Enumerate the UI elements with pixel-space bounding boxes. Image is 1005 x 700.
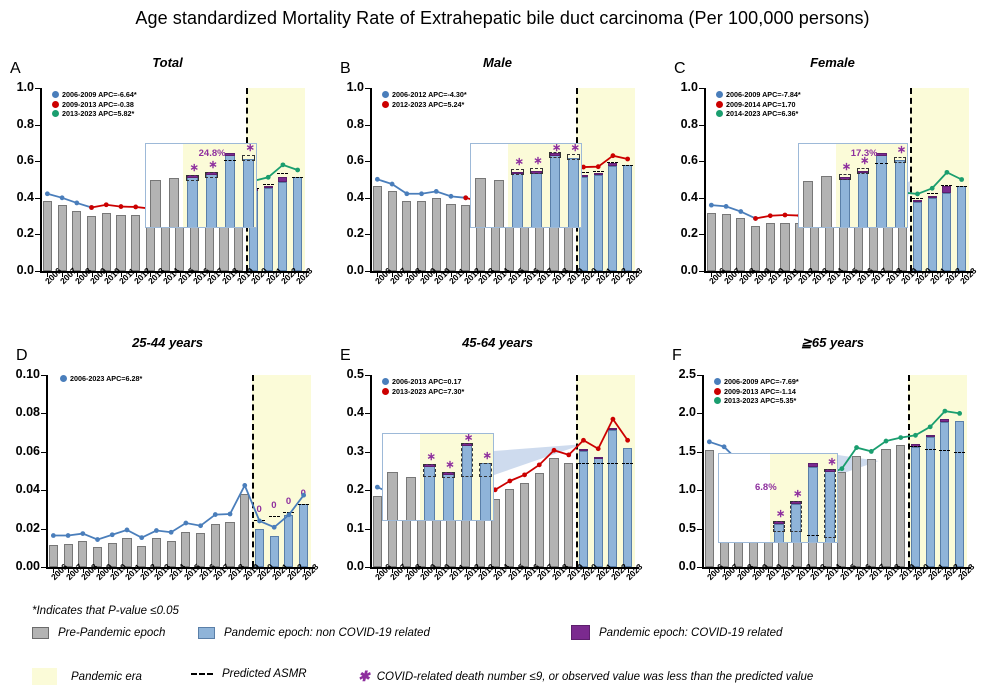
legend-item: 2009-2013 APC=-1.14 [714,387,799,396]
series-point-blue [125,528,130,533]
series-legend-d: 2006-2023 APC=6.28* [60,374,142,384]
panel-title-b: Male [330,55,665,70]
legend-marker-icon [714,388,721,395]
y-tick-label-0.4: 0.4 [0,190,34,204]
y-tick-label-1.0: 1.0 [658,482,696,496]
y-tick-mark [697,413,702,414]
series-point-blue [375,177,380,182]
legend-label: 2013-2023 APC=5.35* [724,396,796,405]
y-tick-mark [41,529,46,530]
series-legend-a: 2006-2009 APC=-6.64*2009-2013 APC=-0.382… [52,90,137,119]
y-tick-label-1.0: 1.0 [660,80,698,94]
legend-marker-icon [716,91,723,98]
bar-2023 [299,504,308,567]
inset-predicted-box [530,168,543,174]
y-tick-label-0.00: 0.00 [2,559,40,573]
series-point-blue [463,195,468,200]
inset-bar [243,159,254,228]
bar-2010 [432,198,441,271]
bar-2021 [270,536,279,567]
panel-title-c: Female [660,55,1005,70]
covid-segment-2021 [926,435,935,437]
figure-footnote: *Indicates that P-value ≤0.05 [32,605,179,617]
y-tick-label-0.0: 0.0 [658,559,696,573]
series-point-red [463,195,468,200]
y-tick-mark [35,198,40,199]
bar-2019 [564,463,573,567]
legend-label: 2009-2013 APC=-1.14 [724,387,796,396]
panel-e: 45-64 yearsE0.00.10.20.30.40.52006200720… [330,335,665,597]
y-tick-mark [697,529,702,530]
inset-bar [150,180,161,228]
bar-2006 [705,450,714,567]
predicted-asmr-2023 [292,177,303,178]
y-tick-mark [699,161,704,162]
star-icon: ✱ [358,668,370,685]
y-tick-mark [35,161,40,162]
y-tick-mark [697,375,702,376]
predicted-asmr-2021 [925,449,936,450]
series-point-blue [95,537,100,542]
y-tick-mark [699,234,704,235]
y-tick-mark [35,234,40,235]
bar-2012 [795,223,804,271]
panel-title-f: ≧65 years [660,335,1005,351]
bar-2014 [825,223,834,271]
panel-letter-c: C [674,60,686,78]
series-point-blue [74,201,79,206]
inset-bar [840,179,851,228]
bar-2017 [867,459,876,567]
legend-item: 2009-2014 APC=1.70 [716,100,801,109]
inset-bar [494,180,505,228]
bar-2015 [837,472,846,567]
predicted-asmr-2021 [269,516,280,517]
bar-2011 [446,204,455,271]
y-tick-mark [365,529,370,530]
series-point-blue [709,203,714,208]
series-point-green [869,449,874,454]
bar-2011 [122,538,131,567]
bar-2021 [264,188,273,271]
y-tick-mark [35,271,40,272]
y-tick-label-0.6: 0.6 [326,153,364,167]
y-tick-mark [699,88,704,89]
legend-label: 2014-2023 APC=6.36* [726,109,798,118]
inset-star-icon: ∗ [445,462,454,468]
y-axis [370,375,372,567]
y-tick-label-0.06: 0.06 [2,444,40,458]
swatch-yellow-icon [32,668,57,685]
inset-bar [821,176,832,228]
y-tick-label-0.6: 0.6 [660,153,698,167]
legend-marker-icon [382,378,389,385]
y-tick-mark [697,567,702,568]
pandemic-divider [908,375,910,567]
covid-segment-2021 [928,196,937,198]
bar-2022 [278,182,287,271]
panel-title-a: Total [0,55,335,70]
bar-2022 [940,422,949,567]
covid-segment-2021 [594,457,603,459]
inset-predicted-dash [875,163,888,164]
series-point-red [552,448,557,453]
y-tick-mark [41,567,46,568]
predicted-asmr-2020 [910,446,921,447]
series-point-blue [707,439,712,444]
inset-pct-label: 24.8% [199,148,226,159]
bar-2006 [43,201,52,271]
y-tick-label-0.3: 0.3 [326,444,364,458]
panel-d: 25-44 yearsD00000.000.020.040.060.080.10… [0,335,335,597]
bar-2006 [49,545,58,567]
bar-2023 [293,177,302,271]
inset-predicted-box [423,464,436,477]
y-tick-label-0.4: 0.4 [660,190,698,204]
panel-a: TotalA0.00.20.40.60.81.02006200720082009… [0,55,335,305]
series-point-blue [51,533,56,538]
y-tick-label-0.08: 0.08 [2,405,40,419]
legend-item: 2013-2023 APC=5.35* [714,396,799,405]
predicted-asmr-2023 [954,452,965,453]
y-tick-label-0.4: 0.4 [326,190,364,204]
series-point-blue [45,191,50,196]
series-point-red [133,205,138,210]
inset-predicted-box [186,175,199,181]
bar-2017 [211,524,220,567]
inset-bar [206,174,217,228]
legend-label: 2006-2023 APC=6.28* [70,374,142,383]
bar-2008 [402,201,411,271]
inset-predicted-box [824,469,836,538]
legend-item: 2006-2012 APC=-4.30* [382,90,467,99]
inset-star-icon: ∗ [776,511,785,517]
bar-2009 [751,226,760,271]
bar-2021 [594,458,603,567]
y-tick-label-0.6: 0.6 [0,153,34,167]
series-point-blue [198,523,203,528]
y-tick-mark [697,490,702,491]
series-point-green [898,435,903,440]
bar-2008 [72,211,81,271]
y-tick-label-2.5: 2.5 [658,367,696,381]
zero-label-2020: 0 [256,504,261,515]
predicted-asmr-2023 [956,186,967,187]
y-tick-label-1.0: 1.0 [326,80,364,94]
series-line-blue [47,194,91,208]
covid-segment-2022 [608,428,617,430]
series-point-blue [449,194,454,199]
inset-bar [803,181,814,228]
bar-2023 [623,165,632,271]
legend-marker-icon [714,378,721,385]
series-point-blue [89,205,94,210]
y-tick-label-0.5: 0.5 [658,521,696,535]
bar-2012 [461,205,470,271]
legend-item: 2013-2023 APC=7.30* [382,387,464,396]
y-tick-label-0.04: 0.04 [2,482,40,496]
legend-label: 2013-2023 APC=5.82* [62,109,134,118]
panel-letter-e: E [340,347,351,365]
inset-covid-segment [808,463,818,467]
legend-label: 2006-2012 APC=-4.30* [392,90,467,99]
series-line-red [92,205,151,209]
panel-letter-b: B [340,60,351,78]
zero-label-2021: 0 [271,500,276,511]
y-tick-label-1.5: 1.5 [658,444,696,458]
y-tick-label-0.4: 0.4 [326,405,364,419]
y-tick-mark [35,125,40,126]
bar-2022 [608,166,617,271]
series-legend-e: 2006-2013 APC=0.172013-2023 APC=7.30* [382,377,464,396]
legend-label: 2006-2013 APC=0.17 [392,377,461,386]
series-point-green [839,466,844,471]
predicted-asmr-2022 [607,463,618,464]
inset-c: ∗∗∗17.3% [798,143,908,228]
panel-title-e: 45-64 years [330,335,665,350]
bar-2012 [131,215,140,271]
y-tick-label-1.0: 1.0 [0,80,34,94]
legend-item: 2012-2023 APC=5.24* [382,100,467,109]
bar-2008 [736,218,745,271]
y-tick-mark [35,88,40,89]
series-point-red [537,462,542,467]
bar-2023 [957,186,966,271]
series-point-green [854,445,859,450]
inset-star-icon: ∗ [571,145,580,151]
inset-bar [568,158,579,228]
y-axis [40,88,42,271]
series-point-blue [738,209,743,214]
pandemic-divider [252,375,254,567]
inset-predicted-box [511,169,524,175]
predicted-asmr-2020 [254,520,265,521]
series-point-red [104,202,109,207]
legend-item: 2006-2009 APC=-7.69* [714,377,799,386]
bar-2011 [780,223,789,271]
inset-predicted-box [479,463,492,477]
predicted-asmr-2021 [263,184,274,185]
inset-pct-label: 6.8% [755,482,777,493]
y-tick-mark [365,567,370,568]
bar-2021 [926,437,935,567]
legend-item: 2006-2009 APC=-6.64* [52,90,137,99]
legend-label: 2006-2009 APC=-7.69* [724,377,799,386]
bar-2020 [913,202,922,271]
inset-b: ∗∗∗∗ [470,143,582,228]
key-label-covid-death-note: COVID-related death number ≤9, or observ… [377,671,814,683]
panel-letter-d: D [16,347,28,365]
bar-2019 [896,445,905,567]
bar-2016 [852,456,861,567]
inset-star-icon: ∗ [897,147,906,153]
series-point-blue [722,444,727,449]
inset-bar [187,177,198,228]
y-tick-label-0.0: 0.0 [326,263,364,277]
y-tick-label-0.5: 0.5 [326,367,364,381]
covid-segment-2021 [264,186,273,188]
bar-2006 [707,213,716,271]
legend-label: 2006-2009 APC=-6.64* [62,90,137,99]
series-point-blue [154,528,159,533]
predicted-asmr-2020 [578,463,589,464]
bar-2017 [535,473,544,567]
legend-label: 2013-2023 APC=7.30* [392,387,464,396]
bar-2022 [284,515,293,567]
covid-segment-2021 [594,173,603,175]
series-point-blue [242,483,247,488]
y-tick-label-2.0: 2.0 [658,405,696,419]
legend-item: 2006-2023 APC=6.28* [60,374,142,383]
y-tick-mark [41,490,46,491]
predicted-asmr-2023 [298,504,309,505]
legend-item: 2014-2023 APC=6.36* [716,109,801,118]
y-tick-mark [699,198,704,199]
bar-2013 [810,222,819,271]
series-legend-f: 2006-2009 APC=-7.69*2009-2013 APC=-1.142… [714,377,799,406]
bar-2016 [196,533,205,567]
key-predicted-asmr: Predicted ASMR [191,668,307,680]
series-legend-c: 2006-2009 APC=-7.84*2009-2014 APC=1.7020… [716,90,801,119]
y-tick-label-0.2: 0.2 [660,226,698,240]
y-tick-label-0.2: 0.2 [326,482,364,496]
legend-label: 2006-2009 APC=-7.84* [726,90,801,99]
legend-marker-icon [382,101,389,108]
inset-bar [225,155,236,228]
inset-predicted-box [442,472,455,478]
inset-pct-label: 17.3% [851,148,878,159]
swatch-grey-icon [32,627,49,639]
figure-title: Age standardized Mortality Rate of Extra… [0,8,1005,29]
series-point-blue [753,216,758,221]
inset-star-icon: ∗ [464,435,473,441]
y-tick-label-0.02: 0.02 [2,521,40,535]
inset-star-icon: ∗ [246,145,255,151]
bar-2006 [373,186,382,271]
inset-e: ∗∗∗∗ [382,433,494,521]
inset-f: ∗∗∗6.8% [718,453,838,543]
bar-2010 [102,213,111,271]
legend-item: 2013-2023 APC=5.82* [52,109,137,118]
inset-bar [531,173,542,228]
pandemic-divider [910,88,912,271]
inset-bar [406,477,417,521]
panel-c: FemaleC0.00.20.40.60.81.0200620072008200… [660,55,1005,305]
covid-segment-2020 [579,449,588,451]
bar-2023 [623,448,632,567]
series-point-blue [724,204,729,209]
y-tick-mark [41,375,46,376]
zero-label-2022: 0 [286,496,291,507]
predicted-asmr-2020 [912,198,923,199]
inset-predicted-box [567,154,580,160]
predicted-asmr-2021 [593,171,604,172]
covid-segment-2020 [913,200,922,202]
series-point-red [522,472,527,477]
panel-letter-f: F [672,347,682,365]
inset-bar [512,173,523,228]
bar-2007 [722,214,731,271]
series-point-blue [404,191,409,196]
bar-2022 [608,430,617,567]
y-axis [702,375,704,567]
bar-2009 [87,216,96,271]
y-axis [370,88,372,271]
inset-predicted-box [790,501,802,532]
legend-marker-icon [382,388,389,395]
inset-predicted-box [773,521,785,532]
series-point-red [753,216,758,221]
inset-predicted-dash [224,160,237,161]
y-tick-mark [365,161,370,162]
key-covid-death-note: ✱ COVID-related death number ≤9, or obse… [358,668,813,685]
bar-2018 [225,522,234,567]
legend-item: 2006-2013 APC=0.17 [382,377,464,386]
bar-2023 [955,421,964,567]
bar-2009 [417,201,426,271]
legend-marker-icon [52,91,59,98]
series-point-red [119,204,124,209]
inset-bar [169,178,180,228]
series-point-blue [213,512,218,517]
panel-title-d: 25-44 years [0,335,335,350]
inset-star-icon: ∗ [552,145,561,151]
y-tick-label-0.10: 0.10 [2,367,40,381]
legend-marker-icon [716,101,723,108]
predicted-asmr-2023 [622,463,633,464]
inset-star-icon: ∗ [190,165,199,171]
series-point-blue [419,191,424,196]
inset-star-icon: ∗ [483,453,492,459]
y-tick-mark [365,452,370,453]
series-point-red [566,452,571,457]
swatch-blue-icon [198,627,215,639]
inset-predicted-box [857,168,870,174]
key-label-predicted-asmr: Predicted ASMR [222,668,307,680]
legend-label: 2009-2013 APC=-0.38 [62,100,134,109]
y-tick-label-0.2: 0.2 [0,226,34,240]
legend-label: 2009-2014 APC=1.70 [726,100,795,109]
inset-bar [808,467,818,543]
predicted-asmr-2022 [939,450,950,451]
bar-2022 [942,193,951,271]
bar-2007 [388,191,397,271]
series-point-red [768,213,773,218]
bar-2014 [167,541,176,567]
y-tick-label-0.2: 0.2 [326,226,364,240]
predicted-asmr-2022 [277,173,288,174]
inset-bar [475,178,486,228]
inset-star-icon: ∗ [842,164,851,170]
inset-predicted-box [839,174,852,180]
predicted-asmr-2022 [283,512,294,513]
y-tick-mark [41,413,46,414]
inset-star-icon: ∗ [515,159,524,165]
bar-2010 [766,223,775,271]
key-pandemic-era: Pandemic era [32,668,142,685]
legend-marker-icon [716,110,723,117]
inset-bar [895,160,906,228]
series-point-blue [169,530,174,535]
inset-star-icon: ∗ [427,454,436,460]
y-tick-mark [697,452,702,453]
bar-2015 [505,489,514,567]
panel-f: ≧65 yearsF0.00.51.01.52.02.5200620072008… [660,335,1005,597]
y-tick-mark [365,413,370,414]
key-label-pre-pandemic: Pre-Pandemic epoch [58,627,165,639]
figure-root: Age standardized Mortality Rate of Extra… [0,0,1005,700]
inset-star-icon: ∗ [208,162,217,168]
